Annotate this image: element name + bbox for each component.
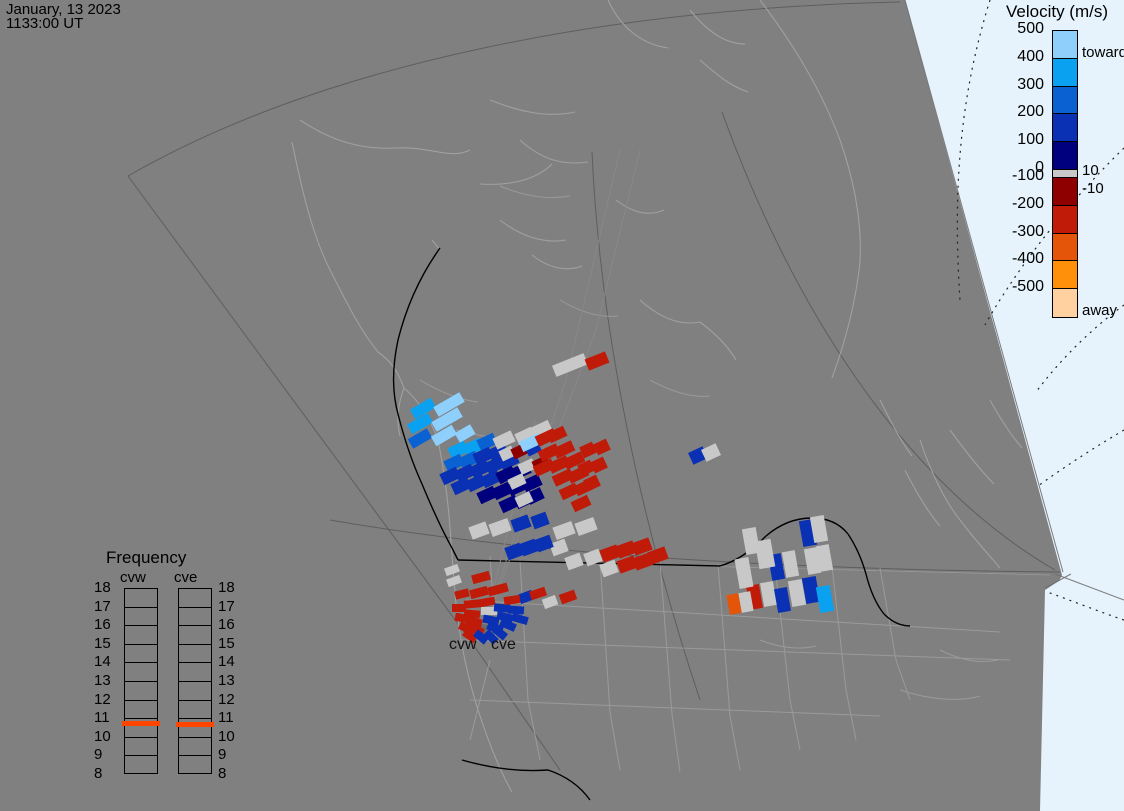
frequency-tick-label: 18 bbox=[94, 579, 111, 596]
velocity-cell bbox=[510, 514, 531, 532]
frequency-legend: Frequency cvwcve181817171616151514141313… bbox=[86, 548, 246, 786]
colorbar-band bbox=[1053, 142, 1077, 170]
velocity-cell bbox=[599, 560, 618, 578]
frequency-cell bbox=[179, 756, 211, 775]
colorbar-tick-label: -500 bbox=[1012, 278, 1044, 296]
velocity-legend-title: Velocity (m/s) bbox=[1006, 2, 1108, 22]
velocity-cell bbox=[468, 521, 489, 539]
frequency-tick-label: 8 bbox=[218, 765, 226, 782]
velocity-cell bbox=[735, 557, 754, 589]
velocity-threshold-pos-label: 10 bbox=[1082, 162, 1099, 179]
frequency-tick-label: 13 bbox=[218, 672, 235, 689]
frequency-cell bbox=[179, 626, 211, 645]
colorbar-tick-label: 200 bbox=[1017, 103, 1044, 121]
colorbar-band bbox=[1053, 261, 1077, 289]
frequency-column-cve bbox=[178, 588, 212, 774]
velocity-cell bbox=[564, 553, 583, 571]
radar-map-stage: January, 13 2023 1133:00 UT Velocity (m/… bbox=[0, 0, 1124, 811]
velocity-legend: Velocity (m/s) 5004003002001000-100-200-… bbox=[962, 0, 1124, 330]
velocity-cell bbox=[760, 581, 777, 607]
observation-time: 1133:00 UT bbox=[6, 16, 83, 32]
frequency-cell bbox=[179, 663, 211, 682]
velocity-cell bbox=[571, 495, 592, 513]
velocity-colorbar bbox=[1052, 30, 1078, 318]
velocity-cell bbox=[487, 583, 509, 597]
colorbar-tick-label: 100 bbox=[1017, 131, 1044, 149]
colorbar-tick-label: -400 bbox=[1012, 250, 1044, 268]
frequency-cell bbox=[179, 589, 211, 608]
frequency-cell bbox=[125, 756, 157, 775]
colorbar-band bbox=[1053, 114, 1077, 142]
velocity-cell bbox=[774, 587, 791, 613]
frequency-tick-label: 15 bbox=[218, 635, 235, 652]
radar-site-label-cve: cve bbox=[491, 636, 516, 654]
velocity-cell bbox=[742, 527, 760, 555]
velocity-cell bbox=[529, 587, 547, 601]
velocity-cell bbox=[574, 517, 597, 536]
velocity-cell bbox=[446, 575, 462, 587]
frequency-cell bbox=[179, 608, 211, 627]
velocity-cell bbox=[508, 605, 525, 614]
frequency-cell bbox=[125, 701, 157, 720]
colorbar-tick-label: -100 bbox=[1012, 167, 1044, 185]
colorbar-tick-label: -300 bbox=[1012, 223, 1044, 241]
velocity-cell bbox=[549, 539, 568, 557]
velocity-cell bbox=[552, 353, 588, 377]
frequency-cell bbox=[125, 645, 157, 664]
velocity-cell bbox=[559, 590, 577, 605]
colorbar-tick-label: 400 bbox=[1017, 48, 1044, 66]
frequency-column-header: cve bbox=[174, 569, 197, 586]
frequency-tick-label: 10 bbox=[94, 728, 111, 745]
colorbar-band bbox=[1053, 234, 1077, 262]
frequency-marker-cve bbox=[176, 722, 214, 727]
frequency-cell bbox=[125, 608, 157, 627]
velocity-cell bbox=[471, 571, 491, 584]
frequency-cell bbox=[179, 738, 211, 757]
velocity-cell bbox=[494, 603, 511, 612]
frequency-cell bbox=[125, 589, 157, 608]
velocity-threshold-neg-label: -10 bbox=[1082, 180, 1104, 197]
frequency-marker-cvw bbox=[122, 721, 160, 726]
frequency-tick-label: 9 bbox=[218, 746, 226, 763]
frequency-tick-label: 16 bbox=[218, 616, 235, 633]
colorbar-tick-label: -200 bbox=[1012, 195, 1044, 213]
colorbar-band bbox=[1053, 31, 1077, 59]
frequency-tick-label: 9 bbox=[94, 746, 102, 763]
velocity-toward-label: toward bbox=[1082, 44, 1124, 61]
frequency-tick-label: 15 bbox=[94, 635, 111, 652]
frequency-tick-label: 11 bbox=[94, 709, 110, 726]
frequency-cell bbox=[125, 738, 157, 757]
frequency-tick-label: 12 bbox=[218, 691, 235, 708]
frequency-tick-label: 14 bbox=[218, 653, 235, 670]
colorbar-band bbox=[1053, 87, 1077, 115]
frequency-cell bbox=[125, 663, 157, 682]
velocity-cell bbox=[454, 424, 475, 443]
frequency-cell bbox=[125, 626, 157, 645]
frequency-cell bbox=[179, 682, 211, 701]
velocity-cell bbox=[542, 595, 559, 609]
velocity-cell bbox=[530, 512, 549, 530]
frequency-legend-title: Frequency bbox=[106, 548, 186, 568]
frequency-tick-label: 17 bbox=[94, 598, 111, 615]
velocity-cell bbox=[816, 585, 834, 613]
frequency-cell bbox=[125, 682, 157, 701]
velocity-cell bbox=[452, 604, 466, 612]
colorbar-tick-label: 300 bbox=[1017, 76, 1044, 94]
frequency-tick-label: 14 bbox=[94, 653, 111, 670]
velocity-cell bbox=[782, 550, 799, 578]
velocity-cell bbox=[488, 518, 511, 537]
velocity-cell bbox=[454, 588, 470, 599]
colorbar-band bbox=[1053, 170, 1077, 178]
frequency-tick-label: 17 bbox=[218, 598, 235, 615]
velocity-cell bbox=[585, 351, 610, 370]
velocity-cell bbox=[469, 586, 489, 599]
colorbar-band bbox=[1053, 289, 1077, 317]
frequency-tick-label: 13 bbox=[94, 672, 111, 689]
radar-site-label-cvw: cvw bbox=[449, 636, 477, 654]
colorbar-band bbox=[1053, 206, 1077, 234]
colorbar-tick-label: 500 bbox=[1017, 20, 1044, 38]
colorbar-band bbox=[1053, 178, 1077, 206]
frequency-column-header: cvw bbox=[120, 569, 146, 586]
colorbar-band bbox=[1053, 59, 1077, 87]
frequency-cell bbox=[179, 701, 211, 720]
frequency-column-cvw bbox=[124, 588, 158, 774]
velocity-cell bbox=[552, 521, 575, 540]
velocity-cell bbox=[504, 595, 521, 605]
frequency-tick-label: 10 bbox=[218, 728, 235, 745]
velocity-cell bbox=[444, 564, 460, 576]
frequency-tick-label: 16 bbox=[94, 616, 111, 633]
velocity-cell bbox=[478, 597, 495, 608]
frequency-tick-label: 8 bbox=[94, 765, 102, 782]
frequency-tick-label: 18 bbox=[218, 579, 235, 596]
frequency-tick-label: 12 bbox=[94, 691, 111, 708]
velocity-cell bbox=[464, 599, 481, 608]
velocity-away-label: away bbox=[1082, 302, 1117, 319]
frequency-cell bbox=[179, 645, 211, 664]
frequency-tick-label: 11 bbox=[218, 709, 234, 726]
